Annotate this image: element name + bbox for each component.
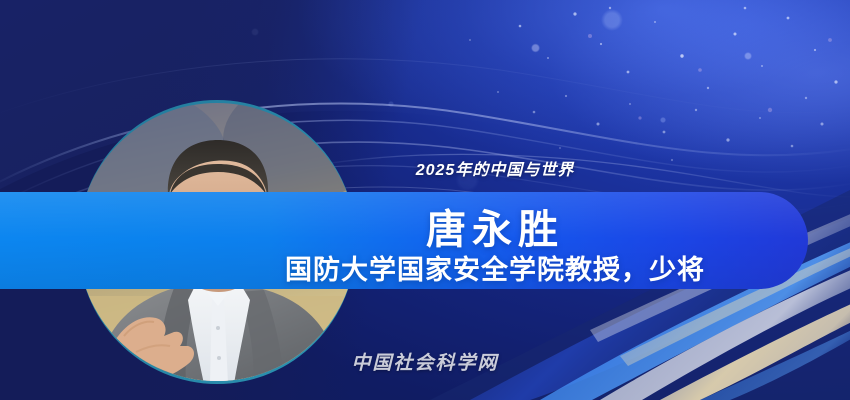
site-watermark: 中国社会科学网 — [0, 348, 850, 375]
speaker-title: 国防大学国家安全学院教授，少将 — [0, 248, 850, 287]
program-kicker-title: 2025年的中国与世界 — [0, 156, 850, 180]
speaker-name: 唐永胜 — [0, 197, 850, 255]
promo-banner-card: 2025年的中国与世界 唐永胜 国防大学国家安全学院教授，少将 中国社会科学网 — [0, 0, 850, 400]
